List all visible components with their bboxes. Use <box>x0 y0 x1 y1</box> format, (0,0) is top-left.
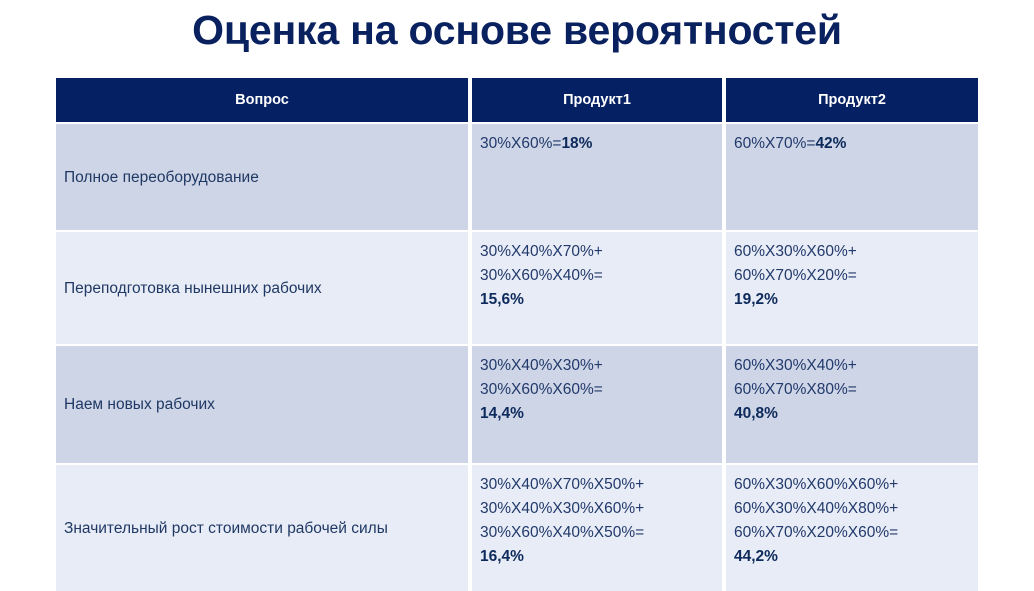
expression-line: 60%X70%=42% <box>734 132 968 156</box>
table-row: Полное переоборудование 30%X60%=18% 60%X… <box>56 124 978 230</box>
result-value: 18% <box>561 135 592 152</box>
expression-line: 30%X60%=18% <box>480 132 712 156</box>
cell-question: Наем новых рабочих <box>56 346 468 463</box>
table-row: Наем новых рабочих 30%X40%X30%+ 30%X60%X… <box>56 346 978 463</box>
cell-product1: 30%X40%X70%+ 30%X60%X40%= 15,6% <box>472 232 722 344</box>
result-value: 19,2% <box>734 288 968 312</box>
result-value: 16,4% <box>480 545 712 569</box>
cell-question: Полное переоборудование <box>56 124 468 230</box>
table-body: Полное переоборудование 30%X60%=18% 60%X… <box>56 122 978 591</box>
table-header: Вопрос Продукт1 Продукт2 <box>56 78 978 122</box>
cell-product2: 60%X30%X40%+ 60%X70%X80%= 40,8% <box>726 346 978 463</box>
expression-line: 30%X60%X40%= <box>480 264 712 288</box>
expression-line: 60%X70%X80%= <box>734 378 968 402</box>
cell-question: Значительный рост стоимости рабочей силы <box>56 465 468 591</box>
result-value: 40,8% <box>734 402 968 426</box>
expression-line: 60%X70%X20%X60%= <box>734 521 968 545</box>
cell-product2: 60%X30%X60%X60%+ 60%X30%X40%X80%+ 60%X70… <box>726 465 978 591</box>
expression-line: 30%X60%X40%X50%= <box>480 521 712 545</box>
page-title: Оценка на основе вероятностей <box>0 4 1034 56</box>
expression-line: 30%X40%X30%X60%+ <box>480 497 712 521</box>
cell-product2: 60%X70%=42% <box>726 124 978 230</box>
cell-product1: 30%X40%X30%+ 30%X60%X60%= 14,4% <box>472 346 722 463</box>
expression-line: 30%X40%X30%+ <box>480 354 712 378</box>
expression-line: 60%X70%X20%= <box>734 264 968 288</box>
result-value: 44,2% <box>734 545 968 569</box>
expression-line: 60%X30%X60%+ <box>734 240 968 264</box>
result-value: 15,6% <box>480 288 712 312</box>
header-row: Вопрос Продукт1 Продукт2 <box>56 78 978 122</box>
expression-text: 30%X60%= <box>480 135 561 152</box>
expression-text: 60%X70%= <box>734 135 815 152</box>
expression-line: 60%X30%X60%X60%+ <box>734 473 968 497</box>
expression-line: 30%X40%X70%X50%+ <box>480 473 712 497</box>
column-header-product1: Продукт1 <box>472 78 722 122</box>
probability-table: Вопрос Продукт1 Продукт2 Полное переобор… <box>56 78 978 591</box>
column-header-product2: Продукт2 <box>726 78 978 122</box>
cell-product1: 30%X40%X70%X50%+ 30%X40%X30%X60%+ 30%X60… <box>472 465 722 591</box>
table-row: Переподготовка нынешних рабочих 30%X40%X… <box>56 232 978 344</box>
cell-question: Переподготовка нынешних рабочих <box>56 232 468 344</box>
table-row: Значительный рост стоимости рабочей силы… <box>56 465 978 591</box>
column-header-question: Вопрос <box>56 78 468 122</box>
slide: Оценка на основе вероятностей Вопрос Про… <box>0 0 1034 557</box>
expression-line: 30%X40%X70%+ <box>480 240 712 264</box>
expression-line: 60%X30%X40%X80%+ <box>734 497 968 521</box>
cell-product2: 60%X30%X60%+ 60%X70%X20%= 19,2% <box>726 232 978 344</box>
cell-product1: 30%X60%=18% <box>472 124 722 230</box>
result-value: 14,4% <box>480 402 712 426</box>
probability-table-container: Вопрос Продукт1 Продукт2 Полное переобор… <box>56 78 978 591</box>
result-value: 42% <box>815 135 846 152</box>
expression-line: 60%X30%X40%+ <box>734 354 968 378</box>
expression-line: 30%X60%X60%= <box>480 378 712 402</box>
